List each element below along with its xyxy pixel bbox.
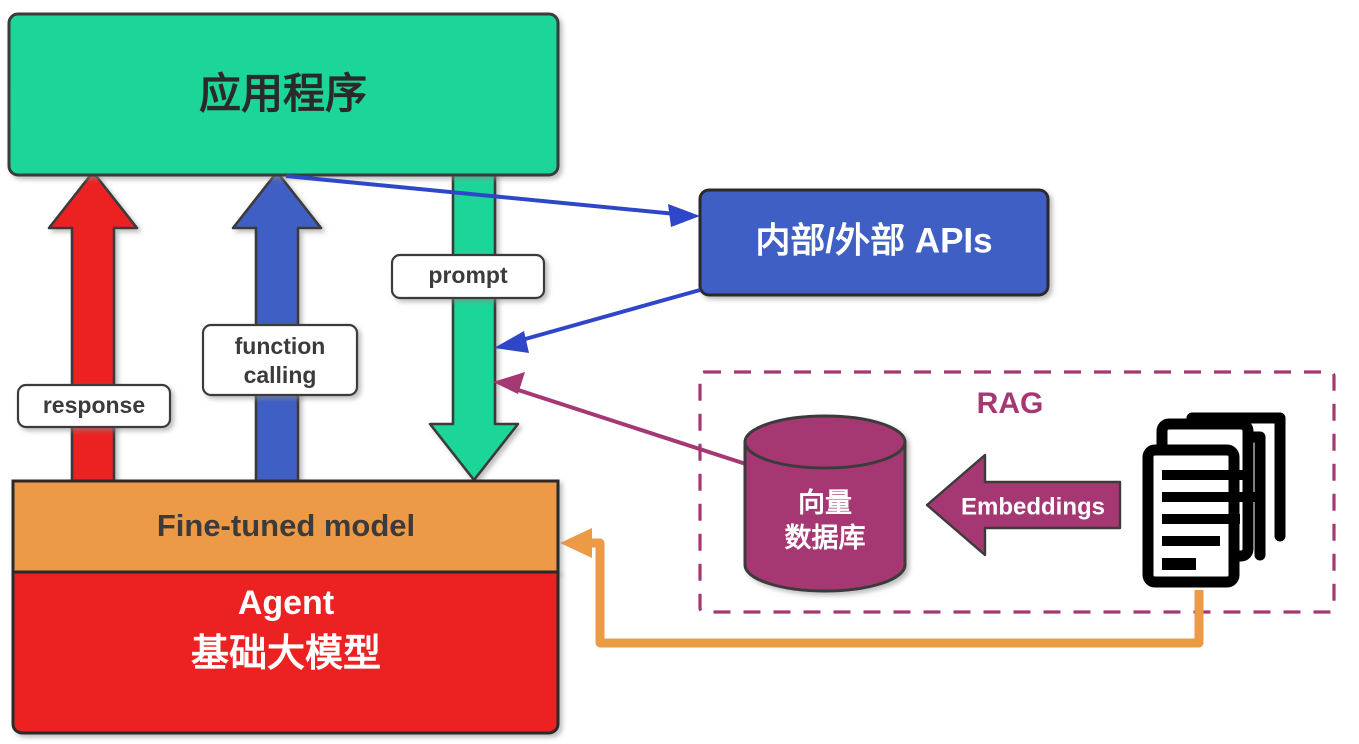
documents-icon xyxy=(1148,418,1280,582)
label-function-calling: function calling xyxy=(203,325,357,395)
documents-icon-line-3 xyxy=(1162,514,1240,524)
fine-tuned-model-label: Fine-tuned model xyxy=(157,508,415,543)
documents-icon-line-5 xyxy=(1162,558,1196,570)
prompt-label-text: prompt xyxy=(428,262,508,288)
apis-label: 内部/外部 APIs xyxy=(755,221,992,260)
apis-to-prompt-arrowhead xyxy=(494,331,529,353)
application-label: 应用程序 xyxy=(199,70,367,117)
edge-prompt-arrow xyxy=(430,160,518,480)
response-label-text: response xyxy=(43,392,145,418)
vector-db-label-line1: 向量 xyxy=(798,487,852,518)
vector-db-label-line2: 数据库 xyxy=(785,523,866,553)
edge-apis-to-prompt xyxy=(494,290,700,353)
documents-to-model-arrowhead xyxy=(560,528,592,558)
embeddings-label: Embeddings xyxy=(961,493,1105,520)
function-calling-label-line2: calling xyxy=(244,362,317,388)
prompt-arrow-shape xyxy=(430,160,518,480)
architecture-diagram: RAG 应用程序 内部/外部 APIs xyxy=(0,0,1359,744)
documents-icon-line-1 xyxy=(1162,470,1250,480)
diagram-canvas: RAG 应用程序 内部/外部 APIs xyxy=(0,0,1359,744)
node-vector-db[interactable]: 向量 数据库 xyxy=(745,416,905,591)
agent-label-line2: 基础大模型 xyxy=(191,633,381,675)
function-calling-label-line1: function xyxy=(235,333,326,359)
node-application[interactable]: 应用程序 xyxy=(9,14,558,175)
vectordb-to-prompt-line xyxy=(512,388,752,466)
vector-db-top xyxy=(745,416,905,468)
node-agent[interactable]: Agent 基础大模型 xyxy=(13,572,558,733)
documents-icon-line-2 xyxy=(1162,492,1260,502)
edge-embeddings: Embeddings xyxy=(927,455,1120,555)
agent-label-line1: Agent xyxy=(238,584,334,622)
rag-group-label: RAG xyxy=(977,387,1044,420)
documents-icon-line-4 xyxy=(1162,536,1220,546)
edge-vectordb-to-prompt xyxy=(493,372,752,466)
edge-response-arrow xyxy=(49,172,137,500)
response-arrow-shape xyxy=(49,172,137,500)
label-response: response xyxy=(18,385,170,427)
node-apis[interactable]: 内部/外部 APIs xyxy=(700,190,1048,295)
app-to-apis-arrowhead xyxy=(668,204,700,227)
label-prompt: prompt xyxy=(392,255,544,298)
node-fine-tuned-model[interactable]: Fine-tuned model xyxy=(13,481,558,572)
